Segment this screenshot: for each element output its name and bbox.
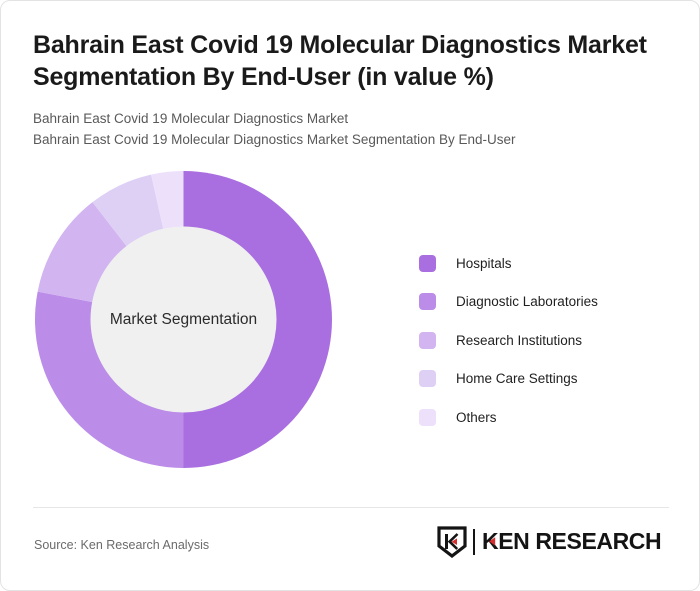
legend-swatch: [419, 332, 436, 349]
legend-item[interactable]: Research Institutions: [419, 321, 669, 360]
chart-subtitle-line-2: Bahrain East Covid 19 Molecular Diagnost…: [33, 130, 663, 151]
legend-swatch: [419, 370, 436, 387]
legend-item-label: Others: [456, 410, 497, 425]
legend-swatch: [419, 293, 436, 310]
footer-divider: [33, 507, 669, 508]
legend-item-label: Hospitals: [456, 256, 512, 271]
legend-item[interactable]: Hospitals: [419, 244, 669, 283]
svg-text:KEN RESEARCH: KEN RESEARCH: [482, 529, 661, 554]
legend-item[interactable]: Others: [419, 398, 669, 437]
chart-legend: HospitalsDiagnostic LaboratoriesResearch…: [419, 244, 669, 437]
chart-card: Bahrain East Covid 19 Molecular Diagnost…: [0, 0, 700, 591]
legend-swatch: [419, 409, 436, 426]
legend-item-label: Research Institutions: [456, 333, 582, 348]
legend-item-label: Home Care Settings: [456, 371, 578, 386]
legend-item-label: Diagnostic Laboratories: [456, 294, 598, 309]
legend-item[interactable]: Home Care Settings: [419, 360, 669, 399]
donut-chart-svg: [35, 171, 332, 468]
ken-research-wordmark: KEN RESEARCH: [482, 529, 668, 555]
donut-center-disc: [91, 227, 277, 413]
shield-k-icon: [437, 526, 467, 558]
chart-subtitle-line-1: Bahrain East Covid 19 Molecular Diagnost…: [33, 109, 663, 130]
donut-chart: Market Segmentation: [35, 171, 332, 468]
source-note: Source: Ken Research Analysis: [34, 538, 209, 552]
logo-divider: [473, 529, 475, 555]
chart-header: Bahrain East Covid 19 Molecular Diagnost…: [33, 29, 663, 150]
chart-subtitle: Bahrain East Covid 19 Molecular Diagnost…: [33, 109, 663, 150]
legend-item[interactable]: Diagnostic Laboratories: [419, 283, 669, 322]
ken-research-logo: KEN RESEARCH: [437, 525, 668, 559]
legend-swatch: [419, 255, 436, 272]
page-title: Bahrain East Covid 19 Molecular Diagnost…: [33, 29, 663, 93]
